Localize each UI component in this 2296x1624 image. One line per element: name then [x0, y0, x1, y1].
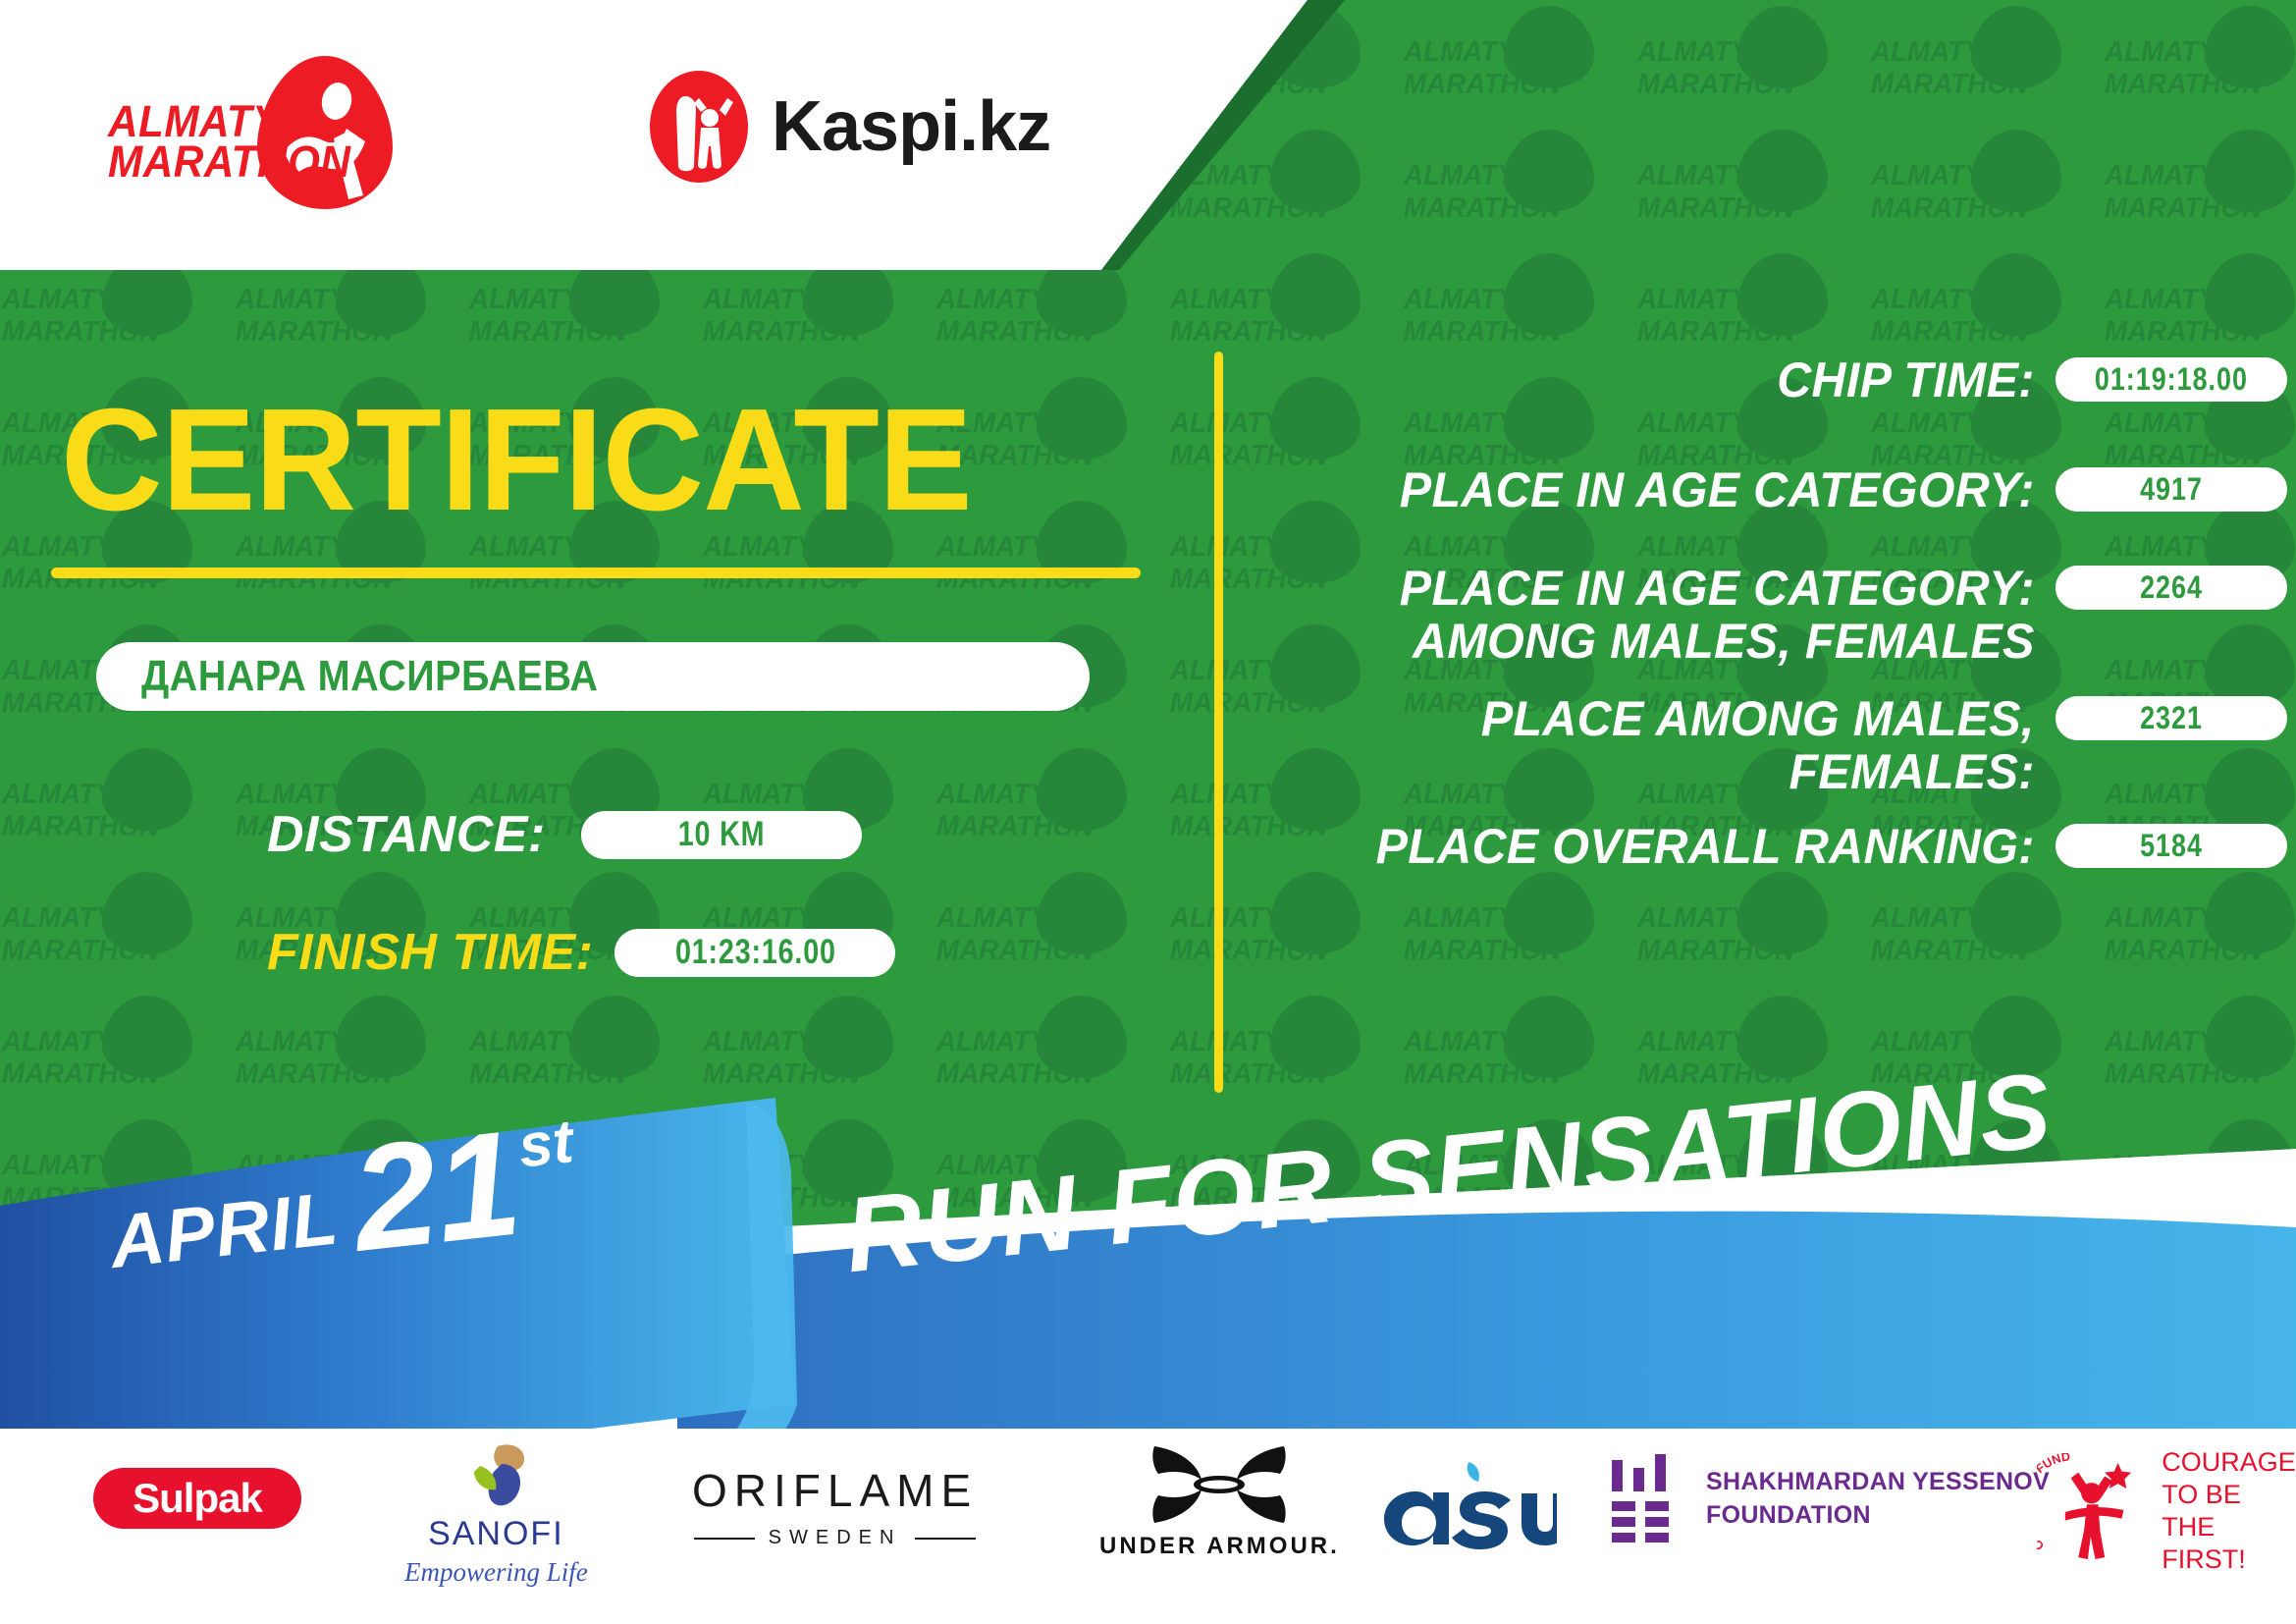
- sanofi-wordmark: SANOFI: [428, 1515, 564, 1553]
- stat-value-pill: 2264: [2056, 566, 2287, 610]
- courage-fund-wordmark: COURAGE TO BE THE FIRST!: [2162, 1446, 2296, 1576]
- stat-label: PLACE OVERALL RANKING:: [1290, 820, 2056, 873]
- oriflame-rule-left: [694, 1538, 755, 1540]
- stat-row: CHIP TIME: 01:19:18.00: [1266, 353, 2287, 406]
- sulpak-wordmark: Sulpak: [133, 1475, 262, 1522]
- stat-value: 5184: [2140, 828, 2203, 864]
- courage-line-2: TO BE: [2162, 1479, 2296, 1511]
- yessenov-line-1: SHAKHMARDAN YESSENOV: [1706, 1466, 2050, 1499]
- event-month: APRIL: [106, 1175, 343, 1285]
- stat-value-pill: 4917: [2056, 467, 2287, 512]
- under-armour-wordmark: UNDER ARMOUR.: [1099, 1533, 1340, 1560]
- distance-value-pill: 10 KM: [581, 811, 862, 859]
- courage-line-3: THE FIRST!: [2162, 1511, 2296, 1576]
- oriflame-sub-row: SWEDEN: [694, 1527, 977, 1549]
- stat-label: PLACE IN AGE CATEGORY:: [1290, 463, 2056, 516]
- kaspi-people-icon: [648, 69, 750, 185]
- stat-label: PLACE AMONG MALES, FEMALES:: [1290, 692, 2056, 798]
- sponsor-sulpak: Sulpak: [93, 1468, 301, 1529]
- stat-value-pill: 5184: [2056, 824, 2287, 868]
- header-content: ALMATY MARATHON Kaspi.kz: [0, 0, 1335, 265]
- sanofi-bird-icon: [451, 1442, 541, 1511]
- sponsor-oriflame: ORIFLAME SWEDEN: [692, 1464, 978, 1549]
- stat-value: 2321: [2140, 700, 2203, 736]
- distance-value: 10 KM: [677, 815, 765, 854]
- kaspi-wordmark: Kaspi.kz: [772, 86, 1050, 167]
- finish-time-label: FINISH TIME:: [267, 923, 593, 982]
- vertical-divider: [1214, 352, 1223, 1093]
- finish-time-row: FINISH TIME: 01:23:16.00: [267, 923, 895, 982]
- finish-time-value-pill: 01:23:16.00: [614, 929, 895, 977]
- title-underline: [51, 568, 1141, 578]
- kaspi-logo: Kaspi.kz: [648, 69, 1050, 185]
- stat-value: 4917: [2140, 471, 2203, 508]
- event-day: 21: [347, 1119, 525, 1265]
- distance-row: DISTANCE: 10 KM: [267, 805, 862, 864]
- sponsor-sanofi: SANOFI Empowering Life: [404, 1442, 588, 1588]
- stat-row: PLACE AMONG MALES, FEMALES: 2321: [1266, 692, 2287, 798]
- event-day-ordinal: st: [515, 1107, 576, 1182]
- courage-fund-icon: CORPORATE FUND: [2037, 1453, 2150, 1569]
- courage-line-1: COURAGE: [2162, 1446, 2296, 1479]
- stat-label: PLACE IN AGE CATEGORY: AMONG MALES, FEMA…: [1290, 562, 2056, 668]
- distance-label: DISTANCE:: [267, 805, 546, 864]
- stat-value: 2264: [2140, 569, 2203, 606]
- almaty-marathon-logo: ALMATY MARATHON: [108, 54, 422, 211]
- under-armour-icon: [1147, 1442, 1292, 1527]
- oriflame-rule-right: [915, 1538, 976, 1540]
- oriflame-wordmark: ORIFLAME: [692, 1464, 978, 1517]
- sponsor-strip: Sulpak SANOFI Empowering Life ORIFLAME S…: [0, 1429, 2296, 1624]
- logo-line-almaty: ALMATY: [108, 101, 350, 141]
- yessenov-mark-icon: [1610, 1454, 1681, 1544]
- svg-text:CORPORATE FUND: CORPORATE FUND: [2037, 1453, 2071, 1553]
- almaty-marathon-wordmark: ALMATY MARATHON: [108, 101, 350, 183]
- participant-name-field: ДАНАРА МАСИРБАЕВА: [96, 642, 1090, 711]
- logo-line-marathon: MARATHON: [108, 141, 350, 182]
- sponsor-under-armour: UNDER ARMOUR.: [1099, 1442, 1340, 1560]
- sponsor-asu: [1374, 1456, 1557, 1550]
- finish-time-value: 01:23:16.00: [675, 933, 836, 972]
- stat-label: CHIP TIME:: [1290, 353, 2056, 406]
- participant-name: ДАНАРА МАСИРБАЕВА: [141, 652, 598, 701]
- stat-row: PLACE IN AGE CATEGORY: 4917: [1266, 463, 2287, 516]
- stat-row: PLACE OVERALL RANKING: 5184: [1266, 820, 2287, 873]
- stat-value-pill: 2321: [2056, 696, 2287, 740]
- sponsor-courage-fund: CORPORATE FUND COURAGE TO BE THE FIRST!: [2037, 1446, 2296, 1576]
- sponsor-yessenov-foundation: SHAKHMARDAN YESSENOV FOUNDATION: [1610, 1454, 2050, 1544]
- certificate-canvas: ALMATY MARATHON ALMATY MARATHON: [0, 0, 2296, 1624]
- yessenov-line-2: FOUNDATION: [1706, 1499, 2050, 1533]
- sanofi-tagline: Empowering Life: [404, 1557, 588, 1588]
- stat-row: PLACE IN AGE CATEGORY: AMONG MALES, FEMA…: [1266, 562, 2287, 668]
- yessenov-wordmark: SHAKHMARDAN YESSENOV FOUNDATION: [1706, 1466, 2050, 1533]
- oriflame-sub: SWEDEN: [769, 1527, 902, 1549]
- certificate-title: CERTIFICATE: [61, 388, 972, 533]
- stat-value-pill: 01:19:18.00: [2056, 357, 2287, 402]
- asu-wordmark-icon: [1374, 1456, 1557, 1550]
- stat-value: 01:19:18.00: [2095, 361, 2248, 398]
